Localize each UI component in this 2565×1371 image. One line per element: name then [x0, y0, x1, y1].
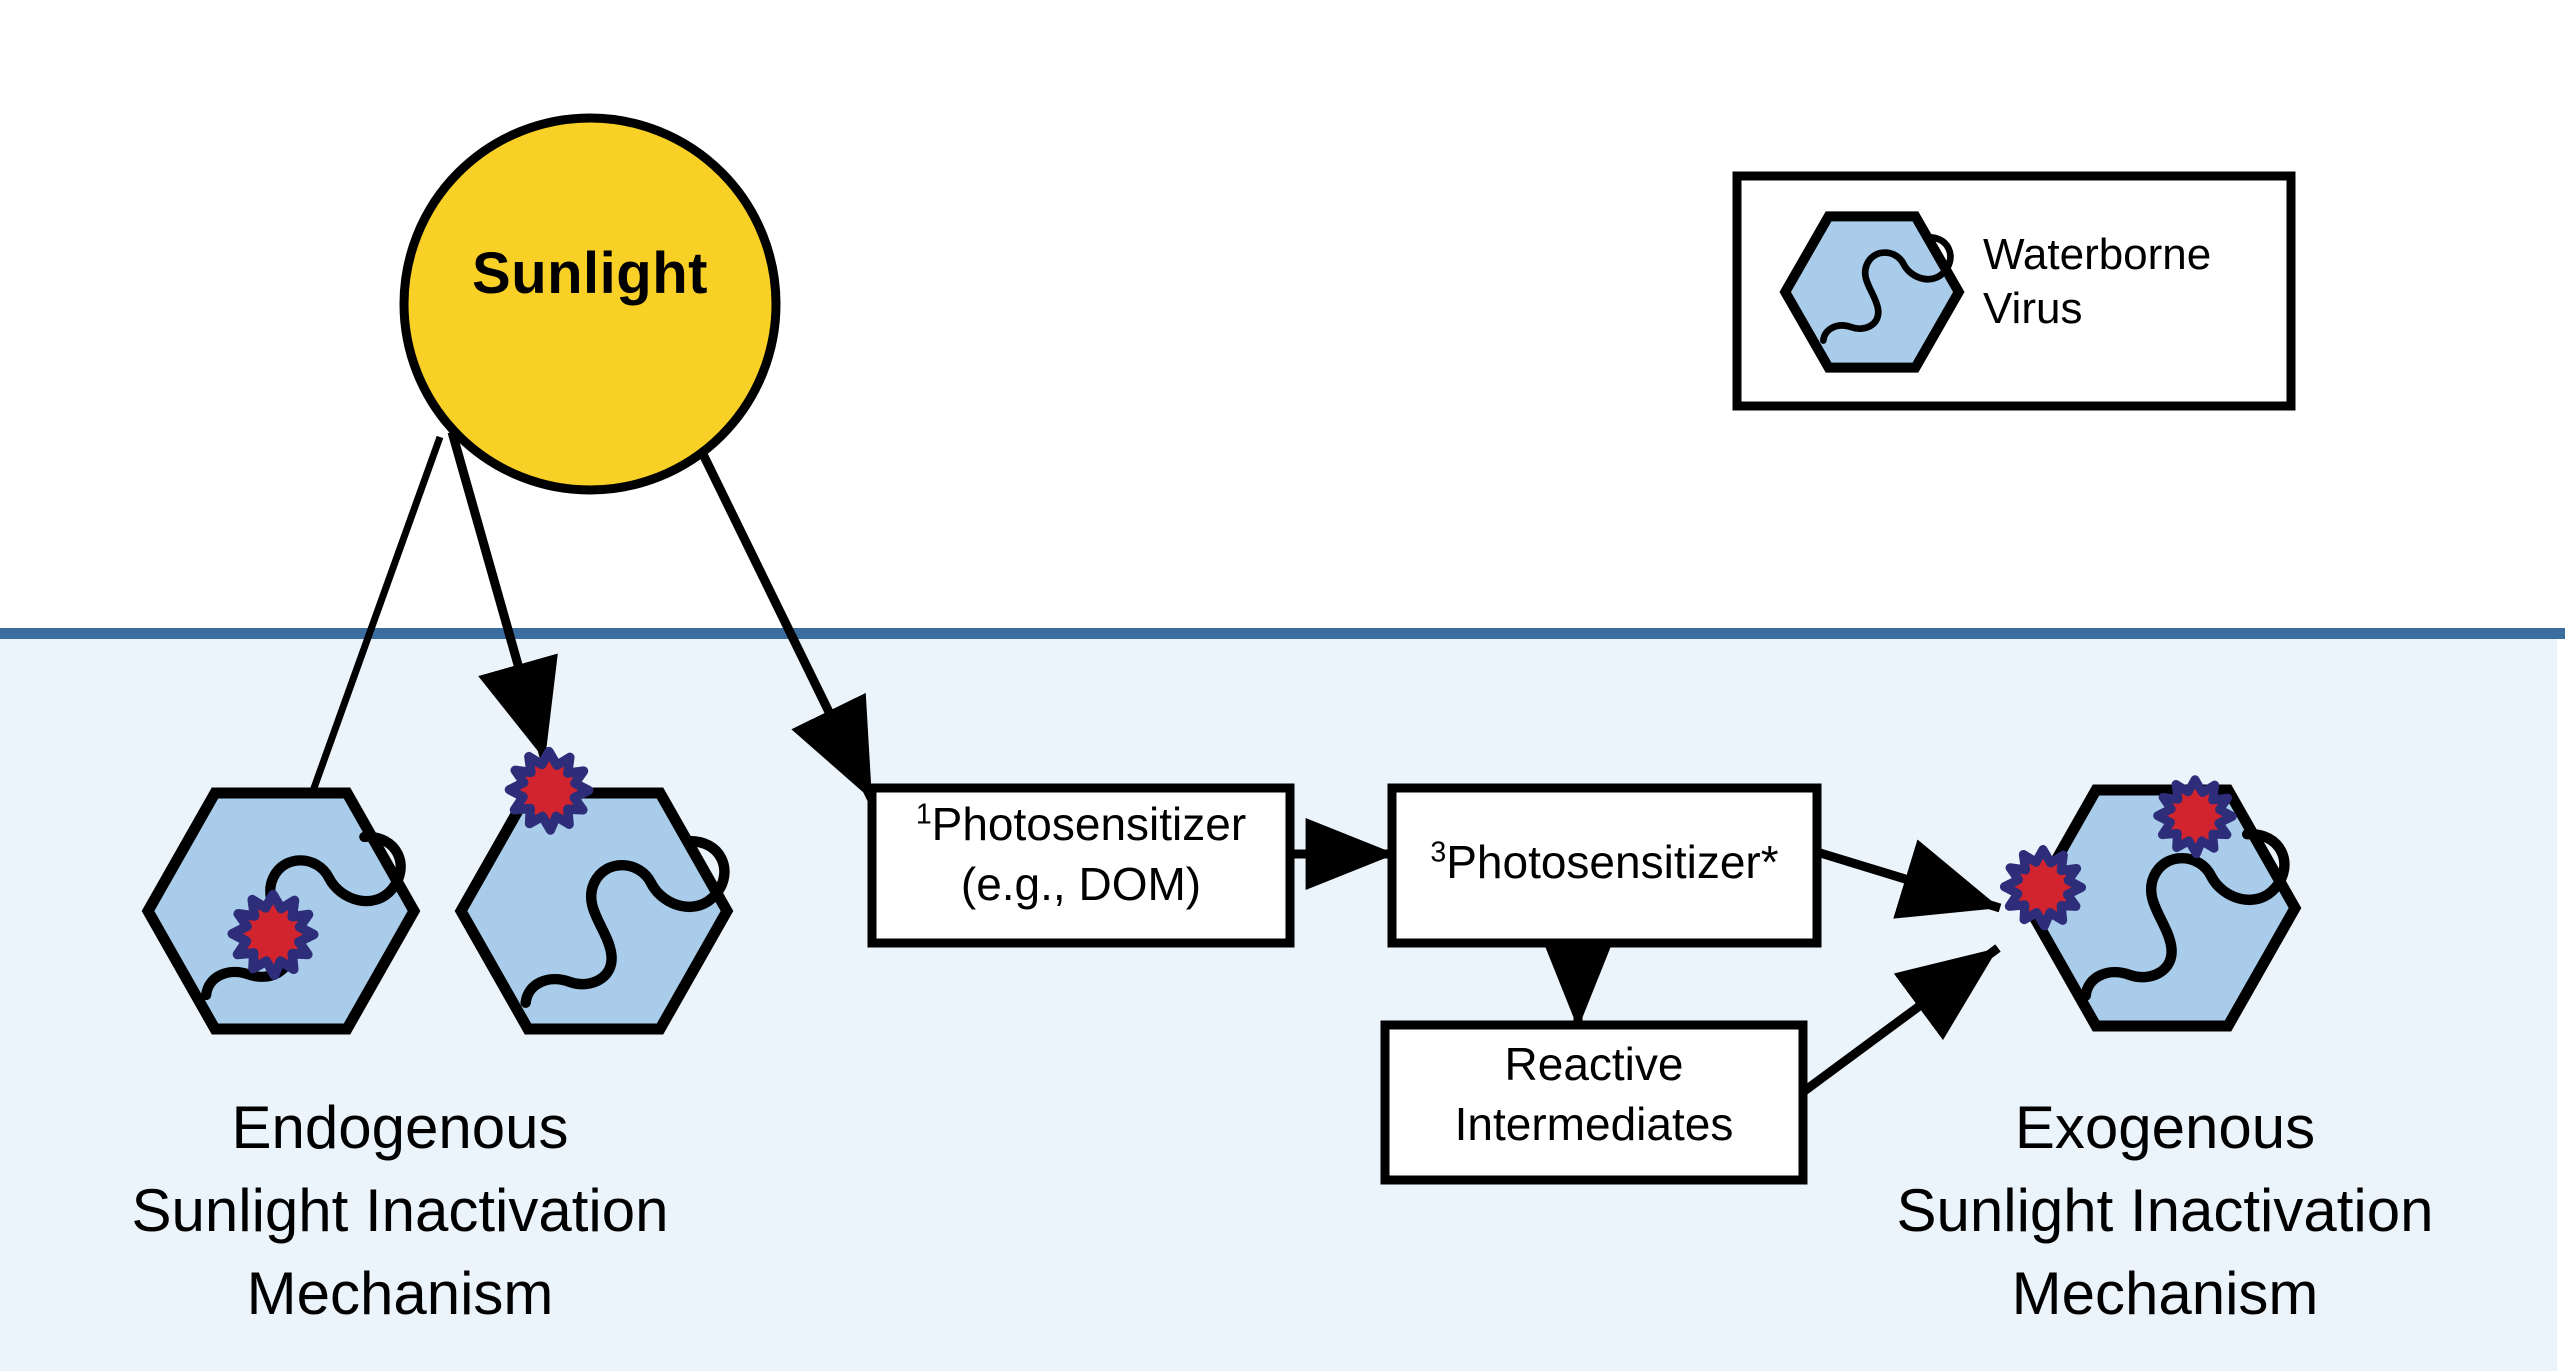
sunlight-label: Sunlight: [400, 240, 780, 308]
caption-exogenous-line1: Exogenous: [1820, 1092, 2510, 1164]
box-photosensitizer-ground-line2: (e.g., DOM): [872, 858, 1290, 911]
box-photosensitizer-triplet-line1: 3Photosensitizer*: [1392, 836, 1817, 889]
legend-label-line1: Waterborne: [1983, 228, 2211, 282]
box-photosensitizer-ground-line1: 1Photosensitizer: [872, 798, 1290, 851]
superscript-3: 3: [1430, 837, 1446, 869]
water-surface-line: [0, 628, 2565, 639]
box-reactive-intermediates-line1: Reactive: [1385, 1038, 1803, 1091]
caption-exogenous-line2: Sunlight Inactivation: [1820, 1175, 2510, 1247]
sunlight-inactivation-diagram: [0, 0, 2565, 1371]
caption-endogenous-line1: Endogenous: [55, 1092, 745, 1164]
legend-label-line2: Virus: [1983, 282, 2082, 336]
caption-exogenous-line3: Mechanism: [1820, 1258, 2510, 1330]
caption-endogenous-line2: Sunlight Inactivation: [55, 1175, 745, 1247]
caption-endogenous-line3: Mechanism: [55, 1258, 745, 1330]
diagram-canvas: Sunlight Waterborne Virus 1Photosensitiz…: [0, 0, 2565, 1371]
box-label-text: Photosensitizer*: [1446, 836, 1778, 888]
box-label-text: Photosensitizer: [932, 798, 1247, 850]
legend-virus-icon: [1785, 216, 1959, 367]
superscript-1: 1: [916, 799, 932, 831]
box-reactive-intermediates-line2: Intermediates: [1385, 1098, 1803, 1151]
